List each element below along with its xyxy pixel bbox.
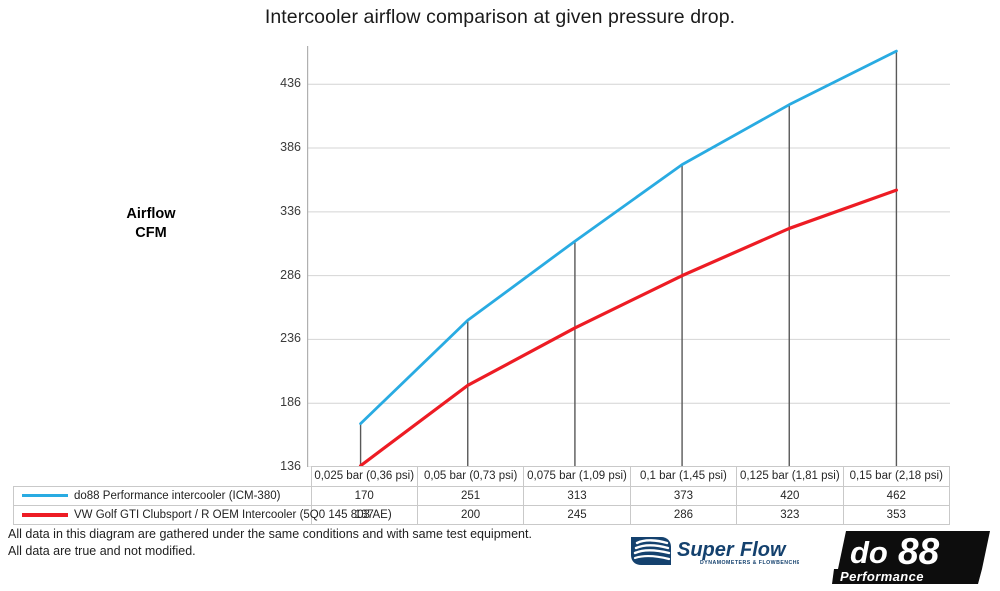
page-title: Intercooler airflow comparison at given … <box>0 6 1000 29</box>
table-cell-value: 200 <box>417 505 523 524</box>
superflow-logo-svg: Super Flow DYNAMOMETERS & FLOWBENCHES <box>627 531 799 571</box>
footnote: All data in this diagram are gathered un… <box>8 526 532 560</box>
y-axis-tick-label: 286 <box>259 268 301 282</box>
superflow-wordmark-flow: Flow <box>740 539 787 561</box>
table-row: VW Golf GTI Clubsport / R OEM Intercoole… <box>14 505 950 524</box>
y-axis-title: Airflow CFM <box>96 205 206 243</box>
y-axis-tick-label: 186 <box>259 395 301 409</box>
table-cell-value: 353 <box>843 505 949 524</box>
table-cell-value: 251 <box>417 486 523 505</box>
do88-tagline: Performance <box>840 569 924 584</box>
y-axis-title-line2: CFM <box>96 224 206 243</box>
table-column-header: 0,025 bar (0,36 psi) <box>311 467 417 487</box>
table-row: do88 Performance intercooler (ICM-380)17… <box>14 486 950 505</box>
y-axis-tick-labels: 136186236286336386436 <box>255 46 301 467</box>
table-cell-value: 462 <box>843 486 949 505</box>
legend-swatch-red <box>22 513 68 517</box>
legend-entry-1: do88 Performance intercooler (ICM-380) <box>14 486 312 505</box>
superflow-swoosh-icon <box>631 537 671 565</box>
series-line-1 <box>361 51 897 424</box>
table-column-header: 0,05 bar (0,73 psi) <box>417 467 523 487</box>
table-cell-value: 170 <box>311 486 417 505</box>
data-table: 0,025 bar (0,36 psi)0,05 bar (0,73 psi)0… <box>13 466 950 525</box>
y-axis-tick-label: 336 <box>259 204 301 218</box>
footnote-line-2: All data are true and not modified. <box>8 543 532 560</box>
table-cell-value: 420 <box>737 486 843 505</box>
do88-wordmark-88: 88 <box>898 531 940 572</box>
table-column-header: 0,075 bar (1,09 psi) <box>524 467 630 487</box>
superflow-tagline: DYNAMOMETERS & FLOWBENCHES <box>700 560 799 566</box>
y-axis-title-line1: Airflow <box>96 205 206 224</box>
table-cell-value: 373 <box>630 486 736 505</box>
do88-logo-svg: do 88 Performance <box>832 529 992 586</box>
table-cell-value: 313 <box>524 486 630 505</box>
table-column-header: 0,1 bar (1,45 psi) <box>630 467 736 487</box>
superflow-logo: Super Flow DYNAMOMETERS & FLOWBENCHES <box>627 531 799 571</box>
table-cell-value: 286 <box>630 505 736 524</box>
table-corner-cell <box>14 467 312 487</box>
data-table-legend: 0,025 bar (0,36 psi)0,05 bar (0,73 psi)0… <box>13 466 950 525</box>
do88-wordmark-do: do <box>850 535 888 570</box>
table-header-row: 0,025 bar (0,36 psi)0,05 bar (0,73 psi)0… <box>14 467 950 487</box>
y-axis-tick-label: 436 <box>259 76 301 90</box>
series-line-2 <box>361 190 897 466</box>
line-chart-svg <box>307 46 950 467</box>
plot-area <box>307 46 950 467</box>
do88-logo: do 88 Performance <box>832 529 992 586</box>
table-column-header: 0,125 bar (1,81 psi) <box>737 467 843 487</box>
legend-label: VW Golf GTI Clubsport / R OEM Intercoole… <box>74 509 392 521</box>
footnote-line-1: All data in this diagram are gathered un… <box>8 526 532 543</box>
legend-entry-2: VW Golf GTI Clubsport / R OEM Intercoole… <box>14 505 312 524</box>
legend-swatch-blue <box>22 494 68 497</box>
table-cell-value: 245 <box>524 505 630 524</box>
table-cell-value: 323 <box>737 505 843 524</box>
superflow-wordmark-super: Super <box>677 539 735 561</box>
legend-label: do88 Performance intercooler (ICM-380) <box>74 490 280 502</box>
table-column-header: 0,15 bar (2,18 psi) <box>843 467 949 487</box>
y-axis-tick-label: 386 <box>259 140 301 154</box>
y-axis-tick-label: 236 <box>259 331 301 345</box>
